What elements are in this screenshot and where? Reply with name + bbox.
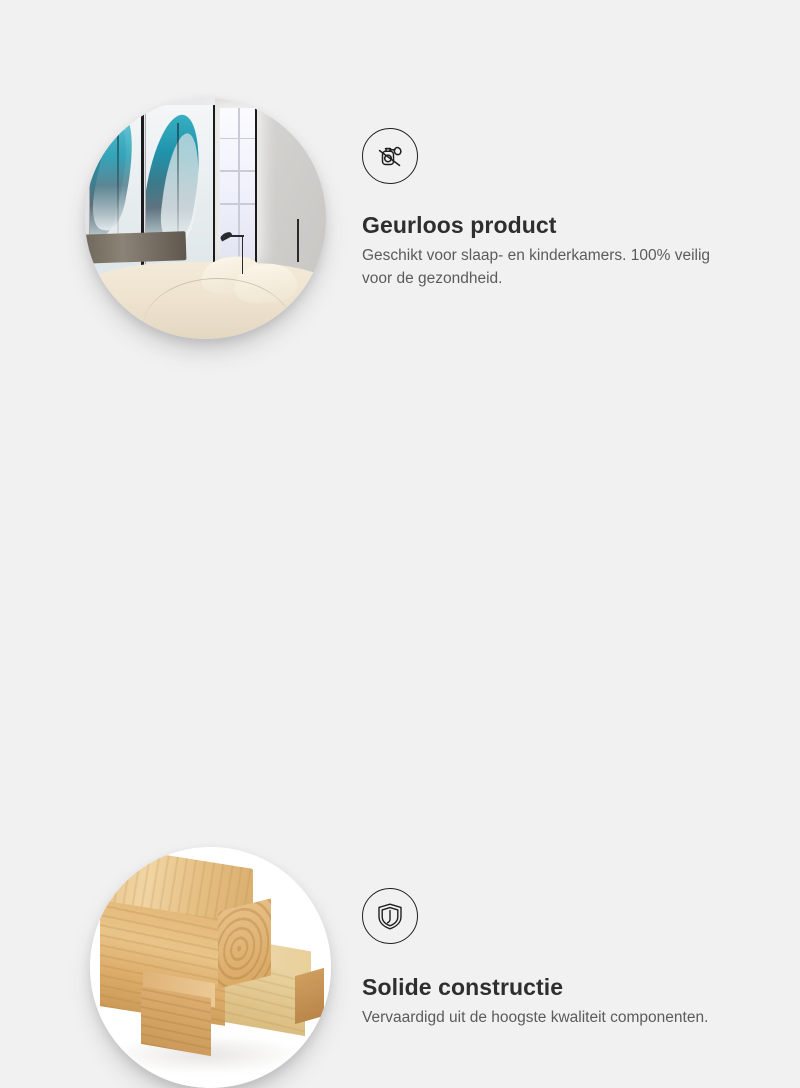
wood-block-right-end-face [295,968,324,1024]
feature-title: Geurloos product [362,212,742,239]
room-scene [85,98,326,339]
feature-row-solid-construction: Solide constructie Vervaardigd uit de ho… [0,400,800,800]
feature-title: Solide constructie [362,974,708,1001]
feature-row-odourless: Geurloos product Geschikt voor slaap- en… [0,0,800,400]
wood-scene [90,847,331,1088]
wooden-blocks-photo [90,847,331,1088]
wood-beam-end-grain-face [218,898,271,988]
feature-description: Geschikt voor slaap- en kinderkamers. 10… [362,245,742,291]
feature-image-solid-construction [90,847,331,1088]
product-features-page: Geurloos product Geschikt voor slaap- en… [0,0,800,800]
feature-text-solid-construction: Solide constructie Vervaardigd uit de ho… [362,888,708,1030]
wood-cube-front-face [141,985,211,1055]
feature-text-odourless: Geurloos product Geschikt voor slaap- en… [362,128,742,291]
bedroom-feather-wall-art-photo [85,98,326,339]
no-perfume-icon [362,128,418,184]
wall-lamp-stem [297,219,299,262]
shield-glyph [373,899,407,933]
headboard [85,231,187,264]
feature-image-odourless [85,98,326,339]
feature-description: Vervaardigd uit de hoogste kwaliteit com… [362,1007,708,1030]
no-perfume-glyph [372,138,408,174]
floor-lamp-stem [242,235,244,274]
shield-icon [362,888,418,944]
